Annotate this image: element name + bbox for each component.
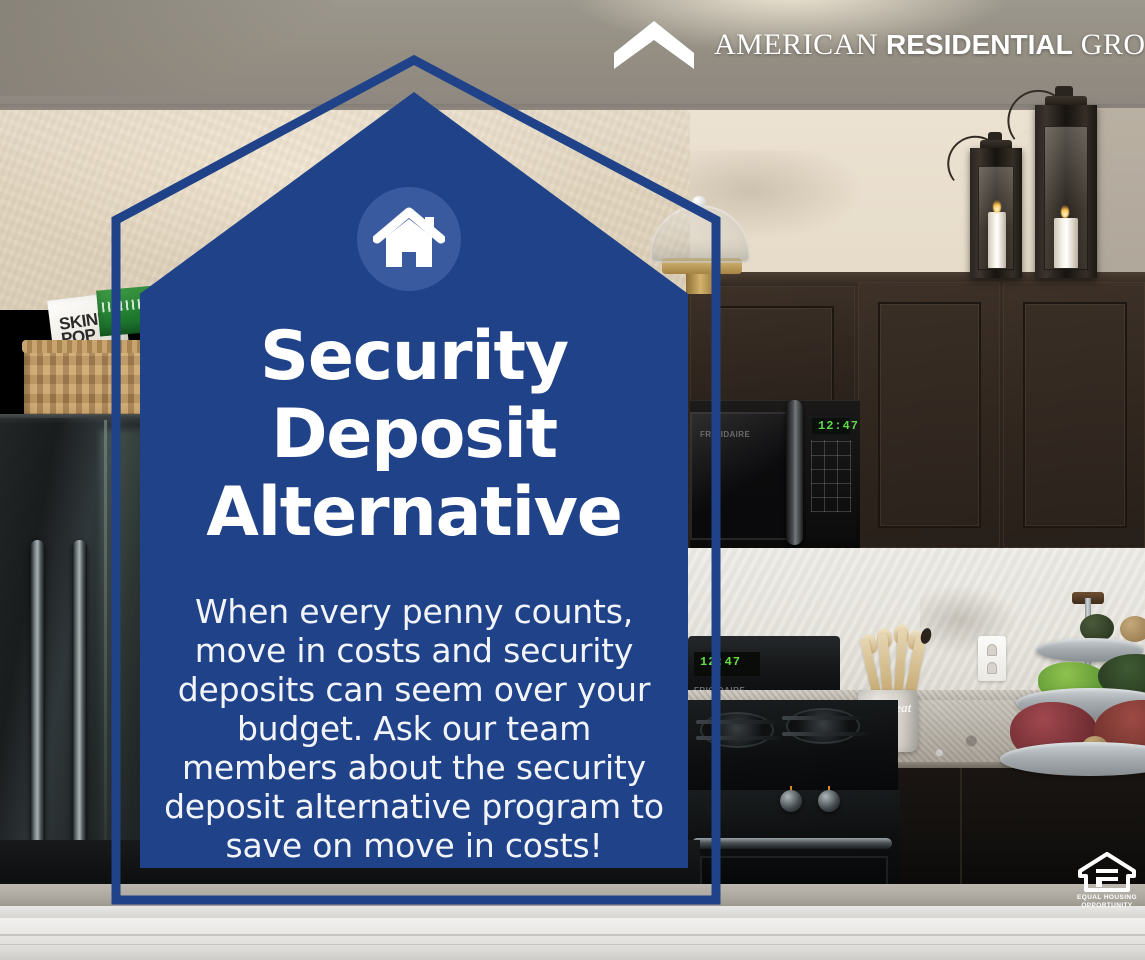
logo-word-group: GROUP: [1081, 28, 1145, 61]
burner-rear: [786, 708, 860, 744]
body-copy: When every penny counts, move in costs a…: [160, 592, 668, 865]
burner-grate-3: [782, 716, 868, 720]
cake-stand-stem: [686, 272, 718, 294]
logo-word-american: AMERICAN: [714, 28, 878, 61]
brand-logo-text: AMERICAN RESIDENTIAL GROUP: [714, 30, 1145, 60]
stove-clock: 12:47: [700, 655, 741, 669]
burner-front: [700, 712, 774, 748]
refrigerator-seam: [104, 420, 107, 890]
refrigerator-handle-right: [72, 540, 87, 890]
wall-outlet: [978, 636, 1006, 681]
ceiling-shadow: [0, 0, 330, 96]
equal-housing-opportunity-logo: EQUAL HOUSING OPPORTUNITY: [1076, 852, 1138, 912]
candle-flame-large: [1061, 205, 1069, 218]
island-molding-line-2: [0, 944, 1145, 945]
oven-handle: [692, 838, 892, 849]
stove-knob-2: [818, 790, 840, 812]
produce-tan-1: [1120, 616, 1145, 642]
microwave-handle: [786, 400, 803, 545]
page-title: Security Deposit Alternative: [140, 318, 688, 552]
microwave-keypad: [811, 440, 851, 512]
microwave-clock: 12:47: [818, 419, 859, 433]
brand-logo[interactable]: AMERICAN RESIDENTIAL GROUP: [612, 18, 1145, 72]
stove-knob-1: [780, 790, 802, 812]
island-front-panel: [0, 918, 1145, 960]
cabinet-panel-1: [712, 306, 834, 404]
headline-line-1: Security: [140, 318, 688, 396]
candle-flame-small: [993, 200, 1001, 213]
house-icon: [373, 206, 445, 272]
burner-grate-4: [782, 732, 868, 736]
burner-grate-2: [696, 736, 782, 740]
candle-large: [1054, 218, 1078, 268]
outlet-socket-top: [987, 644, 997, 656]
island-molding-line-1: [0, 934, 1145, 936]
burner-grate-1: [696, 720, 782, 724]
house-icon-badge: [357, 187, 461, 291]
logo-word-residential: RESIDENTIAL: [886, 29, 1073, 60]
equal-housing-opportunity-text: EQUAL HOUSING OPPORTUNITY: [1077, 894, 1137, 909]
cabinet-panel-3: [1023, 302, 1127, 528]
cake-dome-knob: [692, 196, 706, 208]
headline-line-2: Deposit: [140, 396, 688, 474]
headline-line-3: Alternative: [140, 474, 688, 552]
eho-line-1: EQUAL HOUSING: [1077, 894, 1137, 902]
chevron-roof-icon: [612, 19, 696, 71]
eho-line-2: OPPORTUNITY: [1077, 902, 1137, 910]
equal-housing-opportunity-icon: [1078, 852, 1136, 892]
lower-cabinet-seam: [960, 768, 962, 894]
refrigerator-handle-left: [30, 540, 45, 890]
poster-canvas: SKINNY POP FRIGIDAIRE 12:47: [0, 0, 1145, 960]
cabinet-panel-2: [878, 302, 981, 528]
microwave-brand-label: FRIGIDAIRE: [700, 430, 750, 439]
candle-small: [988, 212, 1006, 268]
outlet-socket-bottom: [987, 662, 997, 674]
